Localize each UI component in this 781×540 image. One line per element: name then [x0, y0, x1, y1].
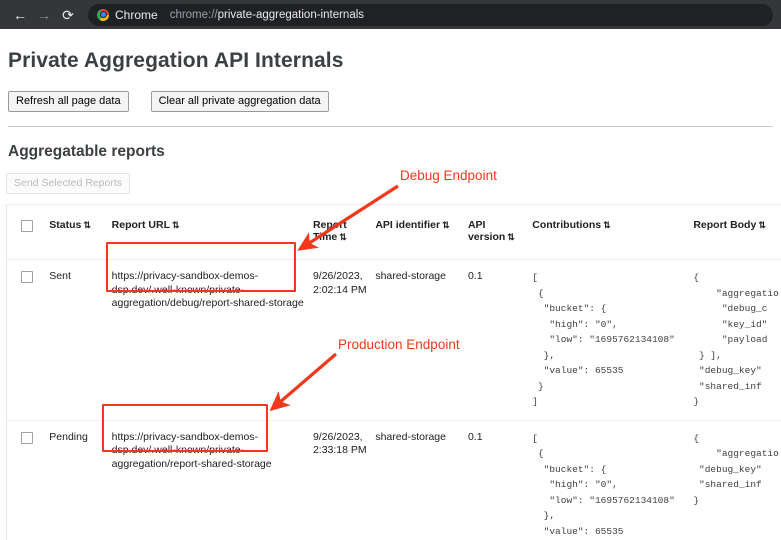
address-bar[interactable]: Chrome chrome://private-aggregation-inte… [88, 4, 773, 26]
header-api-version[interactable]: API version⇅ [468, 205, 518, 260]
table-header-row: Status⇅ Report URL⇅ Report Time⇅ API ide… [7, 205, 781, 260]
row-api-version: 0.1 [468, 420, 518, 540]
row-report-time-text: 9/26/2023, 2:02:14 PM [313, 270, 369, 297]
row-report-body-json: { "aggregatio "debug_key" "shared_inf } [693, 431, 776, 509]
chrome-logo-icon [97, 9, 109, 21]
row-checkbox[interactable] [21, 432, 33, 444]
table-row[interactable]: Pending https://privacy-sandbox-demos-ds… [7, 420, 781, 540]
row-status: Sent [49, 260, 111, 421]
browser-toolbar: ← → ⟳ Chrome chrome://private-aggregatio… [0, 0, 781, 29]
header-report-url[interactable]: Report URL⇅ [112, 205, 313, 260]
header-status[interactable]: Status⇅ [49, 205, 111, 260]
row-select-cell [7, 260, 49, 421]
row-select-cell [7, 420, 49, 540]
row-contributions: [ { "bucket": { "high": "0", "low": "169… [518, 420, 685, 540]
sort-icon[interactable]: ⇅ [758, 220, 766, 230]
reports-table-container: Status⇅ Report URL⇅ Report Time⇅ API ide… [6, 204, 781, 540]
omnibox-url: chrome://private-aggregation-internals [170, 9, 364, 21]
send-selected-reports-button[interactable]: Send Selected Reports [6, 173, 130, 194]
header-status-label: Status [49, 219, 81, 231]
row-checkbox[interactable] [21, 271, 33, 283]
page-content: Private Aggregation API Internals Refres… [0, 29, 781, 540]
row-api-version: 0.1 [468, 260, 518, 421]
row-report-body-json: { "aggregatio "debug_c "key_id" "payload… [693, 270, 776, 410]
row-contributions: [ { "bucket": { "high": "0", "low": "169… [518, 260, 685, 421]
header-report-body[interactable]: Report Body⇅ [685, 205, 781, 260]
header-contributions-label: Contributions [532, 219, 601, 231]
header-api-version-label: API version [468, 219, 505, 243]
header-report-url-label: Report URL [112, 219, 170, 231]
header-api-identifier-label: API identifier [375, 219, 440, 231]
sort-icon[interactable]: ⇅ [442, 220, 450, 230]
reload-icon[interactable]: ⟳ [56, 3, 80, 27]
forward-icon[interactable]: → [32, 3, 56, 27]
sort-icon[interactable]: ⇅ [172, 220, 180, 230]
select-all-header [7, 205, 49, 260]
back-icon[interactable]: ← [8, 3, 32, 27]
header-report-body-label: Report Body [693, 219, 756, 231]
omnibox-brand-label: Chrome [115, 8, 158, 22]
header-report-time[interactable]: Report Time⇅ [313, 205, 375, 260]
row-report-body: { "aggregatio "debug_key" "shared_inf } [685, 420, 781, 540]
table-header: Status⇅ Report URL⇅ Report Time⇅ API ide… [7, 205, 781, 260]
clear-all-private-aggregation-data-button[interactable]: Clear all private aggregation data [151, 91, 329, 112]
refresh-all-page-data-button[interactable]: Refresh all page data [8, 91, 129, 112]
omnibox-url-path: private-aggregation-internals [218, 9, 364, 21]
header-api-identifier[interactable]: API identifier⇅ [375, 205, 468, 260]
row-api-identifier: shared-storage [375, 260, 468, 421]
row-api-identifier: shared-storage [375, 420, 468, 540]
row-contributions-json: [ { "bucket": { "high": "0", "low": "169… [532, 270, 679, 410]
row-report-url-text: https://privacy-sandbox-demos-dsp.dev/.w… [112, 431, 307, 472]
screenshot-root: ← → ⟳ Chrome chrome://private-aggregatio… [0, 0, 781, 540]
row-status: Pending [49, 420, 111, 540]
section-title-aggregatable-reports: Aggregatable reports [0, 127, 781, 161]
table-row[interactable]: Sent https://privacy-sandbox-demos-dsp.d… [7, 260, 781, 421]
aggregatable-reports-table: Status⇅ Report URL⇅ Report Time⇅ API ide… [7, 205, 781, 540]
select-all-checkbox[interactable] [21, 220, 33, 232]
row-report-url: https://privacy-sandbox-demos-dsp.dev/.w… [112, 420, 313, 540]
row-report-url: https://privacy-sandbox-demos-dsp.dev/.w… [112, 260, 313, 421]
row-report-body: { "aggregatio "debug_c "key_id" "payload… [685, 260, 781, 421]
omnibox-url-scheme: chrome:// [170, 9, 218, 21]
sort-icon[interactable]: ⇅ [339, 232, 347, 242]
header-contributions[interactable]: Contributions⇅ [518, 205, 685, 260]
page-title: Private Aggregation API Internals [0, 29, 781, 73]
send-reports-row: Send Selected Reports [0, 161, 781, 194]
row-report-time: 9/26/2023, 2:02:14 PM [313, 260, 375, 421]
row-report-url-text: https://privacy-sandbox-demos-dsp.dev/.w… [112, 270, 307, 311]
sort-icon[interactable]: ⇅ [83, 220, 91, 230]
row-report-time: 9/26/2023, 2:33:18 PM [313, 420, 375, 540]
row-contributions-json: [ { "bucket": { "high": "0", "low": "169… [532, 431, 679, 540]
table-body: Sent https://privacy-sandbox-demos-dsp.d… [7, 260, 781, 540]
sort-icon[interactable]: ⇅ [603, 220, 611, 230]
page-action-buttons: Refresh all page data Clear all private … [0, 73, 781, 112]
sort-icon[interactable]: ⇅ [507, 232, 515, 242]
row-report-time-text: 9/26/2023, 2:33:18 PM [313, 431, 369, 458]
